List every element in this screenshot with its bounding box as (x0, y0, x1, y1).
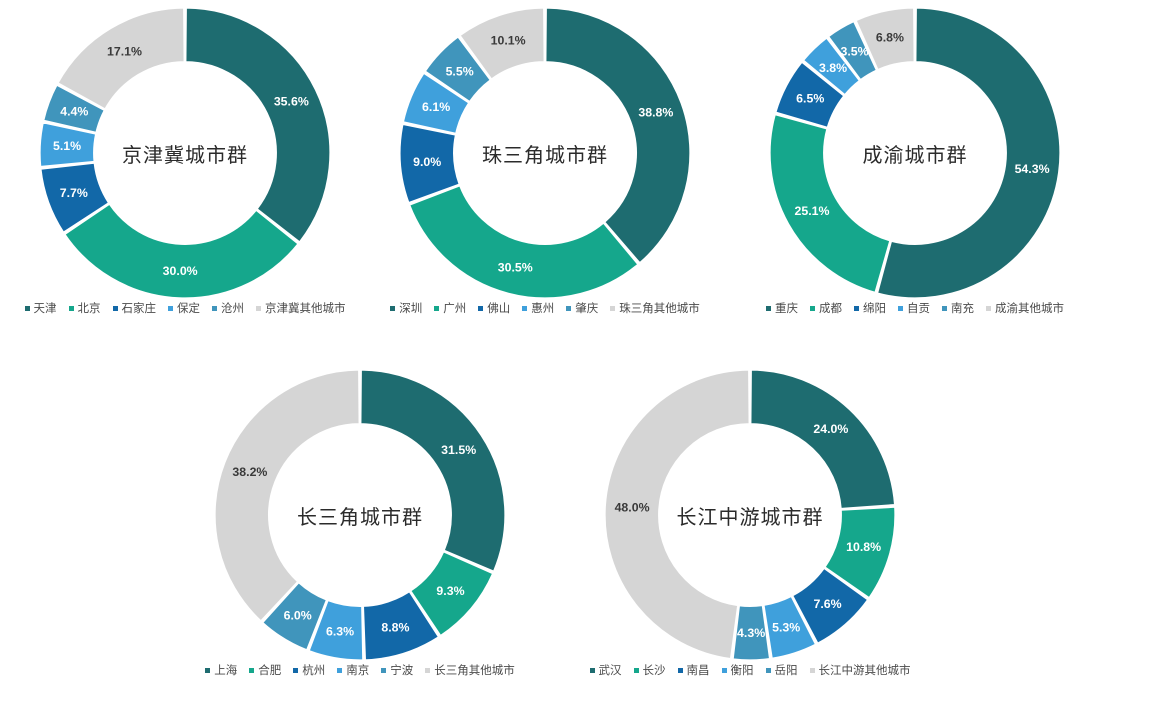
legend-item[interactable]: 南京 (337, 662, 369, 678)
legend-swatch-icon (610, 306, 615, 311)
donut-chart-changsanjiao: 31.5%9.3%8.8%6.3%6.0%38.2%长三角城市群上海合肥杭州南京… (215, 370, 505, 678)
slice-value-label: 9.0% (413, 155, 441, 169)
legend-label: 宁波 (390, 662, 413, 678)
legend-item[interactable]: 成都 (810, 300, 842, 316)
slice-value-label: 3.5% (840, 44, 868, 58)
legend-swatch-icon (381, 668, 386, 673)
pie-slice[interactable] (546, 8, 690, 263)
legend-item[interactable]: 天津 (25, 300, 57, 316)
legend-label: 南京 (346, 662, 369, 678)
slice-value-label: 31.5% (441, 443, 476, 457)
legend-swatch-icon (634, 668, 639, 673)
pie-slice[interactable] (186, 8, 330, 242)
legend-label: 重庆 (775, 300, 798, 316)
donut-graphic: 35.6%30.0%7.7%5.1%4.4%17.1%京津冀城市群 (40, 8, 330, 298)
legend-label: 合肥 (258, 662, 281, 678)
slice-value-label: 10.1% (491, 34, 526, 48)
legend-swatch-icon (434, 306, 439, 311)
legend-label: 京津冀其他城市 (265, 300, 346, 316)
legend-item[interactable]: 惠州 (522, 300, 554, 316)
legend-swatch-icon (810, 668, 815, 673)
legend-item[interactable]: 重庆 (766, 300, 798, 316)
legend-item[interactable]: 南昌 (678, 662, 710, 678)
legend-item[interactable]: 上海 (205, 662, 237, 678)
legend-label: 肇庆 (575, 300, 598, 316)
legend-swatch-icon (25, 306, 30, 311)
legend-item[interactable]: 沧州 (212, 300, 244, 316)
legend-swatch-icon (898, 306, 903, 311)
pie-slice[interactable] (770, 115, 890, 293)
donut-graphic: 54.3%25.1%6.5%3.8%3.5%6.8%成渝城市群 (770, 8, 1060, 298)
chart-legend: 上海合肥杭州南京宁波长三角其他城市 (199, 662, 521, 678)
legend-label: 惠州 (531, 300, 554, 316)
legend-label: 石家庄 (122, 300, 157, 316)
legend-swatch-icon (256, 306, 261, 311)
legend-swatch-icon (425, 668, 430, 673)
slice-value-label: 30.0% (163, 264, 198, 278)
legend-item[interactable]: 石家庄 (113, 300, 157, 316)
legend-label: 衡阳 (731, 662, 754, 678)
legend-item[interactable]: 绵阳 (854, 300, 886, 316)
legend-label: 天津 (34, 300, 57, 316)
chart-legend: 重庆成都绵阳自贡南充成渝其他城市 (760, 300, 1070, 316)
chart-legend: 天津北京石家庄保定沧州京津冀其他城市 (19, 300, 352, 316)
legend-swatch-icon (590, 668, 595, 673)
donut-chart-chengyu: 54.3%25.1%6.5%3.8%3.5%6.8%成渝城市群重庆成都绵阳自贡南… (770, 8, 1060, 316)
legend-swatch-icon (722, 668, 727, 673)
legend-label: 成都 (819, 300, 842, 316)
pie-slice[interactable] (215, 370, 359, 621)
slice-value-label: 5.1% (53, 139, 81, 153)
legend-item[interactable]: 肇庆 (566, 300, 598, 316)
legend-item[interactable]: 杭州 (293, 662, 325, 678)
legend-label: 上海 (214, 662, 237, 678)
pie-slice[interactable] (751, 370, 895, 508)
slice-value-label: 54.3% (1015, 162, 1050, 176)
legend-item[interactable]: 珠三角其他城市 (610, 300, 700, 316)
legend-swatch-icon (69, 306, 74, 311)
legend-label: 北京 (78, 300, 101, 316)
legend-item[interactable]: 武汉 (590, 662, 622, 678)
legend-item[interactable]: 南充 (942, 300, 974, 316)
legend-swatch-icon (854, 306, 859, 311)
donut-graphic: 38.8%30.5%9.0%6.1%5.5%10.1%珠三角城市群 (400, 8, 690, 298)
legend-item[interactable]: 长江中游其他城市 (810, 662, 911, 678)
donut-chart-jingjinji: 35.6%30.0%7.7%5.1%4.4%17.1%京津冀城市群天津北京石家庄… (40, 8, 330, 316)
legend-swatch-icon (113, 306, 118, 311)
legend-item[interactable]: 宁波 (381, 662, 413, 678)
legend-item[interactable]: 长三角其他城市 (425, 662, 515, 678)
pie-slice[interactable] (361, 370, 505, 571)
legend-label: 深圳 (399, 300, 422, 316)
legend-label: 沧州 (221, 300, 244, 316)
slice-value-label: 6.5% (796, 91, 824, 105)
legend-swatch-icon (478, 306, 483, 311)
legend-item[interactable]: 保定 (168, 300, 200, 316)
pie-slice[interactable] (65, 204, 298, 298)
legend-item[interactable]: 自贡 (898, 300, 930, 316)
legend-swatch-icon (986, 306, 991, 311)
legend-label: 武汉 (599, 662, 622, 678)
slice-value-label: 24.0% (813, 422, 848, 436)
legend-item[interactable]: 衡阳 (722, 662, 754, 678)
legend-label: 长三角其他城市 (434, 662, 515, 678)
legend-item[interactable]: 京津冀其他城市 (256, 300, 346, 316)
donut-chart-changjiangzhongyou: 24.0%10.8%7.6%5.3%4.3%48.0%长江中游城市群武汉长沙南昌… (605, 370, 895, 678)
legend-swatch-icon (168, 306, 173, 311)
slice-value-label: 6.3% (326, 624, 354, 638)
legend-label: 成渝其他城市 (995, 300, 1064, 316)
slice-value-label: 6.8% (876, 31, 904, 45)
slice-value-label: 6.0% (284, 608, 312, 622)
legend-swatch-icon (810, 306, 815, 311)
legend-label: 保定 (177, 300, 200, 316)
legend-item[interactable]: 岳阳 (766, 662, 798, 678)
slice-value-label: 38.2% (232, 465, 267, 479)
legend-swatch-icon (249, 668, 254, 673)
slice-value-label: 48.0% (615, 501, 650, 515)
legend-swatch-icon (390, 306, 395, 311)
slice-value-label: 8.8% (381, 621, 409, 635)
slice-value-label: 3.8% (819, 61, 847, 75)
legend-item[interactable]: 广州 (434, 300, 466, 316)
legend-item[interactable]: 佛山 (478, 300, 510, 316)
legend-swatch-icon (566, 306, 571, 311)
donut-chart-zhusanjiao: 38.8%30.5%9.0%6.1%5.5%10.1%珠三角城市群深圳广州佛山惠… (400, 8, 690, 316)
slice-value-label: 17.1% (107, 45, 142, 59)
legend-swatch-icon (766, 668, 771, 673)
legend-swatch-icon (293, 668, 298, 673)
legend-swatch-icon (766, 306, 771, 311)
slice-value-label: 30.5% (498, 260, 533, 274)
chart-legend: 深圳广州佛山惠州肇庆珠三角其他城市 (384, 300, 706, 316)
legend-label: 佛山 (487, 300, 510, 316)
legend-item[interactable]: 合肥 (249, 662, 281, 678)
slice-value-label: 5.3% (772, 620, 800, 634)
legend-label: 长沙 (643, 662, 666, 678)
legend-swatch-icon (337, 668, 342, 673)
legend-item[interactable]: 北京 (69, 300, 101, 316)
slice-value-label: 5.5% (446, 64, 474, 78)
legend-swatch-icon (942, 306, 947, 311)
legend-item[interactable]: 深圳 (390, 300, 422, 316)
legend-swatch-icon (205, 668, 210, 673)
legend-swatch-icon (522, 306, 527, 311)
legend-swatch-icon (678, 668, 683, 673)
slice-value-label: 7.7% (60, 186, 88, 200)
slice-value-label: 9.3% (436, 584, 464, 598)
slice-value-label: 6.1% (422, 100, 450, 114)
donut-graphic: 31.5%9.3%8.8%6.3%6.0%38.2%长三角城市群 (215, 370, 505, 660)
slice-value-label: 38.8% (638, 105, 673, 119)
slice-value-label: 4.3% (737, 626, 765, 640)
legend-swatch-icon (212, 306, 217, 311)
slice-value-label: 4.4% (60, 105, 88, 119)
legend-label: 南充 (951, 300, 974, 316)
legend-label: 广州 (443, 300, 466, 316)
legend-label: 自贡 (907, 300, 930, 316)
legend-item[interactable]: 长沙 (634, 662, 666, 678)
legend-label: 绵阳 (863, 300, 886, 316)
slice-value-label: 7.6% (814, 597, 842, 611)
slice-value-label: 35.6% (274, 94, 309, 108)
legend-label: 南昌 (687, 662, 710, 678)
pie-slice[interactable] (410, 186, 638, 298)
donut-graphic: 24.0%10.8%7.6%5.3%4.3%48.0%长江中游城市群 (605, 370, 895, 660)
chart-board: 35.6%30.0%7.7%5.1%4.4%17.1%京津冀城市群天津北京石家庄… (0, 0, 1155, 720)
legend-label: 长江中游其他城市 (819, 662, 911, 678)
legend-label: 珠三角其他城市 (619, 300, 700, 316)
legend-item[interactable]: 成渝其他城市 (986, 300, 1064, 316)
legend-label: 岳阳 (775, 662, 798, 678)
legend-label: 杭州 (302, 662, 325, 678)
slice-value-label: 10.8% (846, 540, 881, 554)
slice-value-label: 25.1% (794, 204, 829, 218)
chart-legend: 武汉长沙南昌衡阳岳阳长江中游其他城市 (584, 662, 917, 678)
